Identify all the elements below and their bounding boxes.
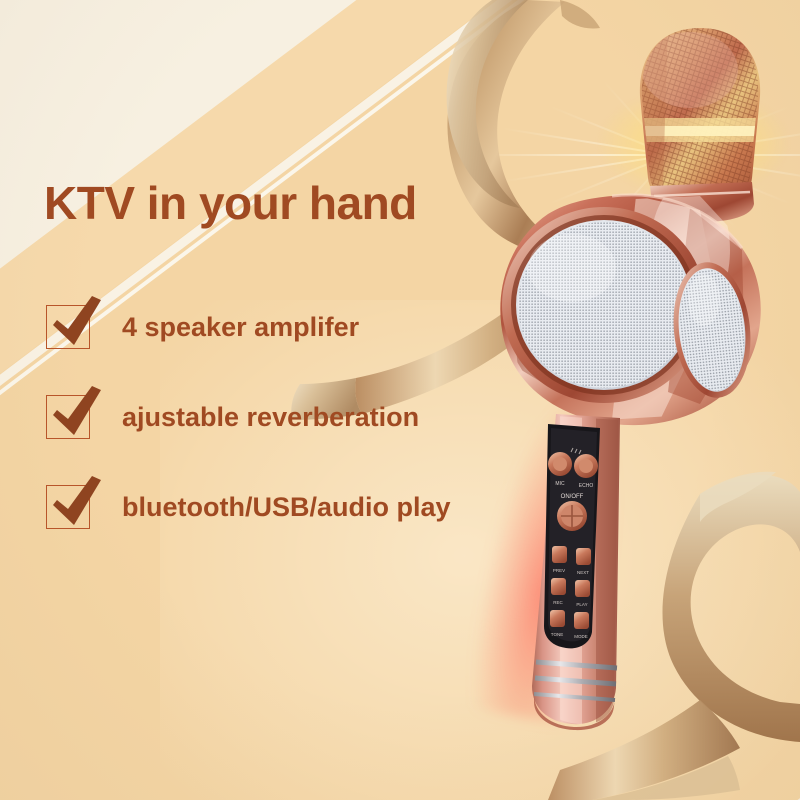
feature-label-2: ajustable reverberation	[122, 402, 419, 433]
feature-list: 4 speaker amplifer ajustable reverberati…	[46, 296, 451, 566]
checkmark-icon	[44, 293, 106, 353]
feature-item-1: 4 speaker amplifer	[46, 296, 451, 358]
checkmark-icon	[44, 473, 106, 533]
checkbox-3[interactable]	[46, 485, 90, 529]
feature-label-3: bluetooth/USB/audio play	[122, 492, 451, 523]
feature-item-2: ajustable reverberation	[46, 386, 451, 448]
checkbox-1[interactable]	[46, 305, 90, 349]
checkbox-2[interactable]	[46, 395, 90, 439]
product-poster: KTV in your hand 4 speaker amplifer ajus…	[0, 0, 800, 800]
mic-light-flare	[598, 88, 788, 198]
feature-label-1: 4 speaker amplifer	[122, 312, 359, 343]
checkmark-icon	[44, 383, 106, 443]
page-title: KTV in your hand	[44, 176, 417, 230]
feature-item-3: bluetooth/USB/audio play	[46, 476, 451, 538]
